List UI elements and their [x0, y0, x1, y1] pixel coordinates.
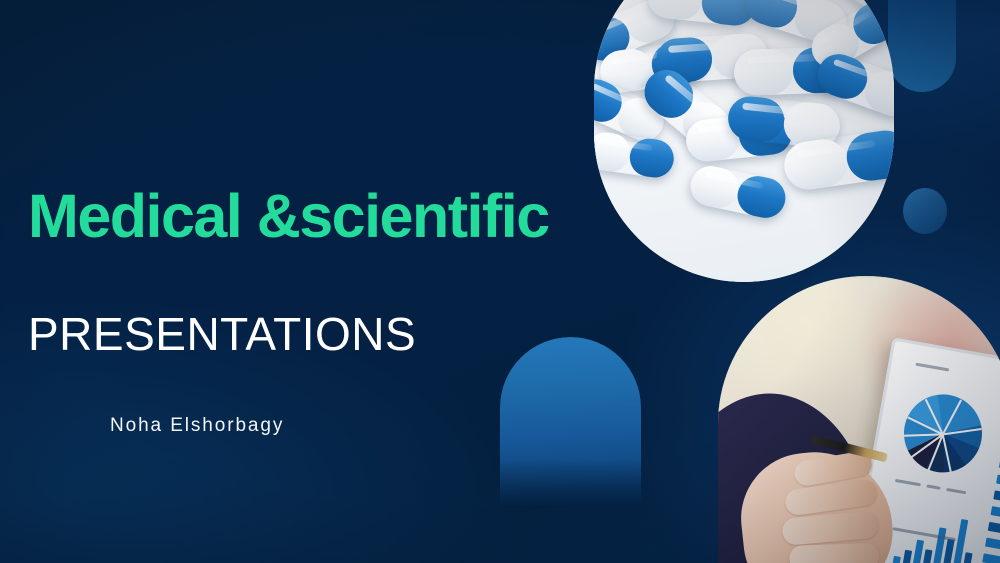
slide-vignette — [0, 0, 1000, 563]
title-slide: Medical &scientific PRESENTATIONS Noha E… — [0, 0, 1000, 563]
page-title: Medical &scientific — [28, 186, 549, 247]
author-byline: Noha Elshorbagy — [110, 416, 284, 435]
page-subtitle: PRESENTATIONS — [28, 311, 416, 357]
